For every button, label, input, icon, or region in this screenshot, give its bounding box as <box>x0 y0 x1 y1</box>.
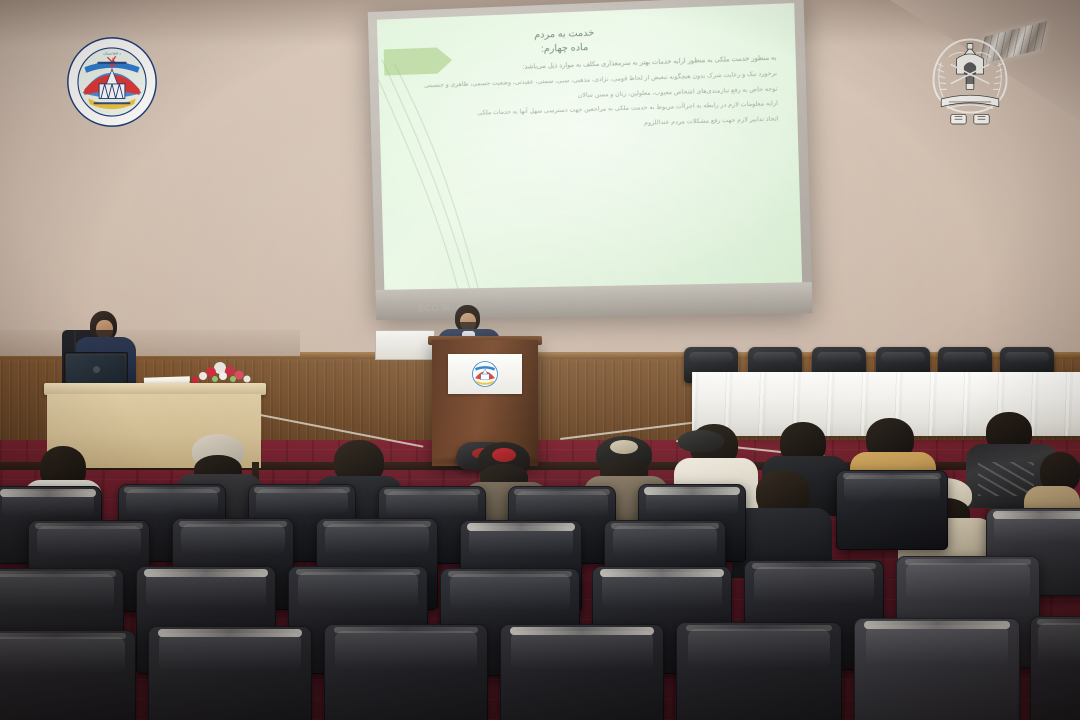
emirate-emblem <box>922 24 1018 128</box>
seat-r4-c3 <box>324 624 488 720</box>
svg-text:د افغانستان: د افغانستان <box>103 50 121 55</box>
seat-r4-c4 <box>500 624 664 720</box>
seat-r4-c1 <box>0 630 136 720</box>
projection-screen: خدمت به مردم ماده چهارم: به منظور خدمت م… <box>368 0 813 320</box>
projection-surface: خدمت به مردم ماده چهارم: به منظور خدمت م… <box>377 3 802 290</box>
laptop-screen <box>64 352 128 386</box>
conference-hall-photo: د افغانستان <box>0 0 1080 720</box>
podium-dabs-emblem <box>460 359 510 389</box>
laptop-logo-icon <box>93 366 100 373</box>
podium-emblem-panel <box>448 354 522 394</box>
seat-r4-c2 <box>148 626 312 720</box>
presentation-slide: خدمت به مردم ماده چهارم: به منظور خدمت م… <box>377 3 802 290</box>
attendee-9-shirt-pattern <box>978 462 1034 496</box>
dabs-emblem: د افغانستان <box>66 36 158 128</box>
attendee-cap-13 <box>678 430 724 452</box>
seat-r1-c8 <box>836 470 948 550</box>
seat-r4-c6 <box>854 618 1020 720</box>
slide-text-block: خدمت به مردم ماده چهارم: به منظور خدمت م… <box>391 20 783 141</box>
attendee-turban-5-cap <box>610 440 638 454</box>
seat-r4-c5 <box>676 622 842 720</box>
seat-r4-c7 <box>1030 616 1080 720</box>
attendee-cap-4-red-center <box>492 448 516 462</box>
wall-whiteboard <box>375 330 435 360</box>
